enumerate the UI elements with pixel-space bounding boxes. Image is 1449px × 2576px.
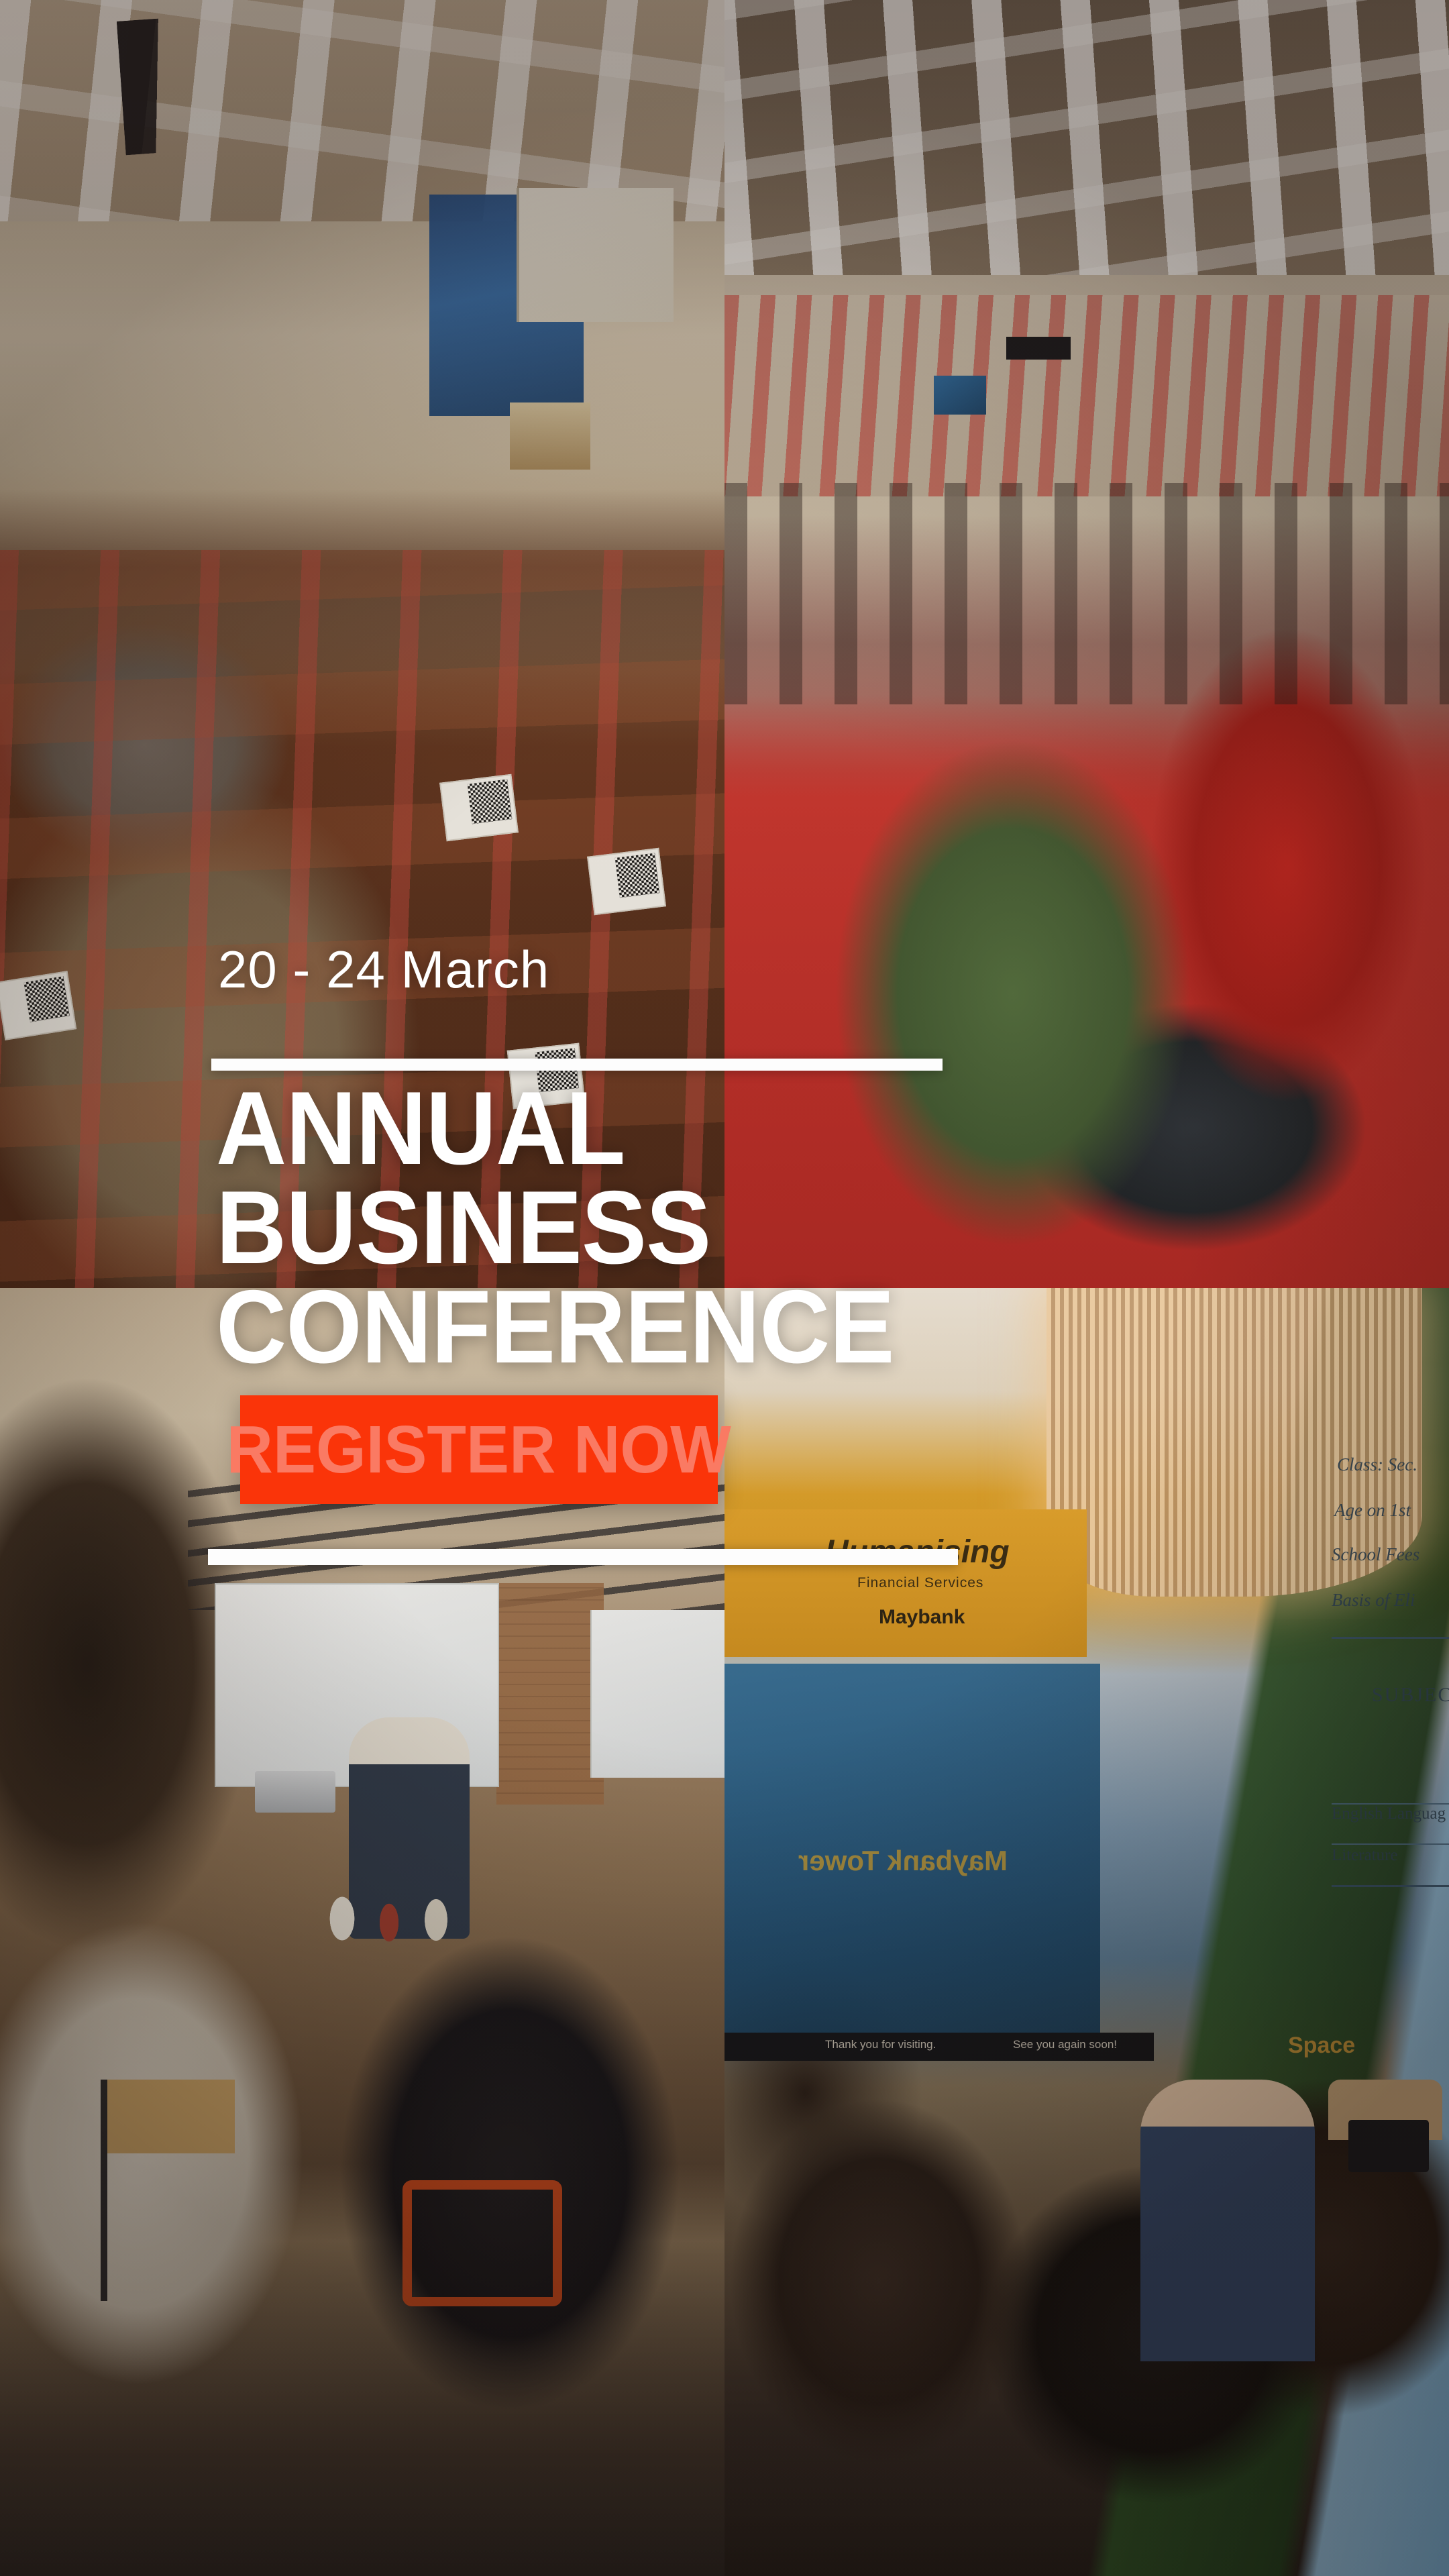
divider-bottom [208,1549,958,1565]
event-date: 20 - 24 March [218,943,549,996]
page-title: ANNUAL BUSINESS CONFERENCE [216,1079,894,1377]
headline-line-2: BUSINESS [216,1178,894,1277]
poster-root: Humanising Financial Services Maybank Ma… [0,0,1449,2576]
headline-line-1: ANNUAL [216,1079,894,1178]
register-now-label: REGISTER NOW [227,1416,731,1483]
text-overlay: 20 - 24 March ANNUAL BUSINESS CONFERENCE… [0,0,1449,2576]
register-now-button[interactable]: REGISTER NOW [240,1395,718,1504]
headline-line-3: CONFERENCE [216,1277,894,1377]
divider-top [211,1059,943,1071]
